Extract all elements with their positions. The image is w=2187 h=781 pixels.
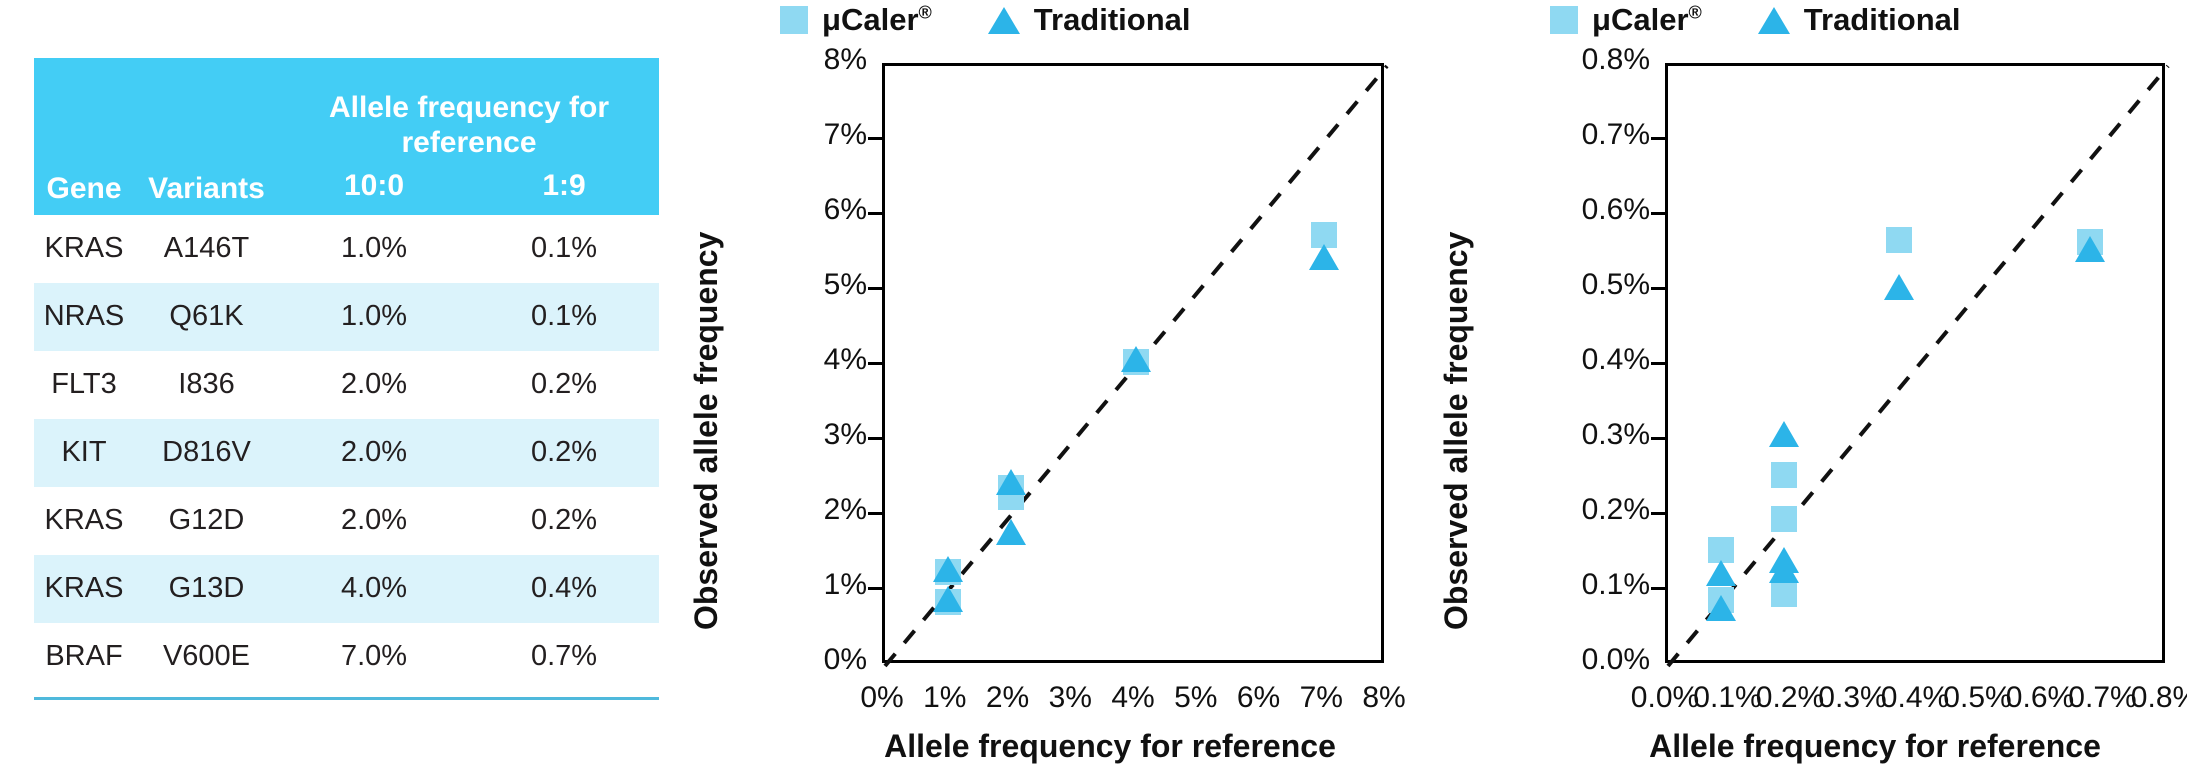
y-axis-tick-mark — [1651, 362, 1665, 365]
square-marker-icon — [1550, 6, 1578, 34]
data-point-triangle — [1769, 421, 1799, 447]
y-axis-tick-label: 0.7% — [1525, 118, 1650, 152]
cell-gene: KRAS — [34, 555, 134, 623]
cell-variant: A146T — [134, 215, 279, 283]
y-axis-tick-mark — [868, 362, 882, 365]
chart-1-plot-area — [882, 63, 1384, 663]
y-axis-tick-label: 1% — [742, 568, 867, 602]
y-axis-tick-label: 0.5% — [1525, 268, 1650, 302]
table-row: KRASG12D2.0%0.2% — [34, 487, 659, 555]
table-row: KRASG13D4.0%0.4% — [34, 555, 659, 623]
cell-variant: G13D — [134, 555, 279, 623]
chart-2-y-axis-label: Observed allele frequency — [1438, 232, 1475, 630]
legend-item-traditional: Traditional — [1758, 2, 1961, 38]
data-point-triangle — [1884, 274, 1914, 300]
chart-2-plot-area — [1665, 63, 2165, 663]
data-point-triangle — [996, 519, 1026, 545]
y-axis-tick-label: 0.8% — [1525, 43, 1650, 77]
data-point-square — [1708, 537, 1734, 563]
table-header-variants: Variants — [134, 163, 279, 215]
cell-gene: NRAS — [34, 283, 134, 351]
legend-item-ucaler: μCaler® — [780, 2, 932, 38]
y-axis-tick-label: 5% — [742, 268, 867, 302]
y-axis-tick-label: 0.6% — [1525, 193, 1650, 227]
table-header-ratio-1-9: 1:9 — [469, 163, 659, 215]
identity-line — [1668, 66, 2162, 660]
table-header-ratio-10-0: 10:0 — [279, 163, 469, 215]
data-point-triangle — [1309, 244, 1339, 270]
chart-1-legend: μCaler® Traditional — [780, 2, 1191, 38]
cell-gene: KRAS — [34, 487, 134, 555]
cell-variant: I836 — [134, 351, 279, 419]
y-axis-tick-mark — [1651, 587, 1665, 590]
cell-af-10-0: 1.0% — [279, 215, 469, 283]
cell-af-10-0: 4.0% — [279, 555, 469, 623]
cell-af-10-0: 7.0% — [279, 623, 469, 691]
data-point-triangle — [1121, 346, 1151, 372]
data-point-triangle — [996, 469, 1026, 495]
y-axis-tick-label: 3% — [742, 418, 867, 452]
data-point-triangle — [1706, 595, 1736, 621]
cell-af-1-9: 0.2% — [469, 351, 659, 419]
y-axis-tick-label: 8% — [742, 43, 867, 77]
cell-variant: V600E — [134, 623, 279, 691]
table-row: NRASQ61K1.0%0.1% — [34, 283, 659, 351]
legend-label-traditional: Traditional — [1034, 2, 1191, 38]
cell-af-1-9: 0.7% — [469, 623, 659, 691]
chart-2-x-axis-label: Allele frequency for reference — [1570, 728, 2180, 765]
y-axis-tick-label: 2% — [742, 493, 867, 527]
cell-variant: D816V — [134, 419, 279, 487]
y-axis-tick-label: 0.1% — [1525, 568, 1650, 602]
cell-af-10-0: 2.0% — [279, 419, 469, 487]
y-axis-tick-mark — [868, 587, 882, 590]
y-axis-tick-mark — [1651, 512, 1665, 515]
cell-gene: KRAS — [34, 215, 134, 283]
data-point-triangle — [1706, 560, 1736, 586]
data-point-square — [1886, 227, 1912, 253]
cell-af-1-9: 0.1% — [469, 215, 659, 283]
data-point-square — [1771, 462, 1797, 488]
legend-item-ucaler: μCaler® — [1550, 2, 1702, 38]
table-head: Allele frequency for reference Gene Vari… — [34, 58, 659, 215]
y-axis-tick-label: 4% — [742, 343, 867, 377]
data-point-triangle — [2075, 236, 2105, 262]
chart-2-legend: μCaler® Traditional — [1550, 2, 1961, 38]
y-axis-tick-label: 0.0% — [1525, 643, 1650, 677]
table-header-group-allele-frequency: Allele frequency for reference — [279, 78, 659, 163]
y-axis-tick-mark — [1651, 212, 1665, 215]
data-point-triangle — [933, 556, 963, 582]
x-axis-tick-label: 0.8% — [2105, 681, 2187, 715]
square-marker-icon — [780, 6, 808, 34]
cell-af-10-0: 2.0% — [279, 487, 469, 555]
scatter-chart-1: μCaler® Traditional Observed allele freq… — [660, 0, 1420, 781]
legend-item-traditional: Traditional — [988, 2, 1191, 38]
table-row: KRASA146T1.0%0.1% — [34, 215, 659, 283]
y-axis-tick-mark — [1651, 437, 1665, 440]
cell-af-10-0: 2.0% — [279, 351, 469, 419]
chart-1-x-axis-label: Allele frequency for reference — [800, 728, 1420, 765]
y-axis-tick-mark — [868, 287, 882, 290]
y-axis-tick-mark — [868, 137, 882, 140]
y-axis-tick-label: 0% — [742, 643, 867, 677]
cell-af-1-9: 0.1% — [469, 283, 659, 351]
y-axis-tick-mark — [868, 512, 882, 515]
cell-af-1-9: 0.2% — [469, 419, 659, 487]
data-point-square — [1771, 581, 1797, 607]
cell-gene: FLT3 — [34, 351, 134, 419]
variant-table-panel: Allele frequency for reference Gene Vari… — [34, 58, 659, 700]
chart-1-y-axis-label: Observed allele frequency — [688, 232, 725, 630]
cell-gene: BRAF — [34, 623, 134, 691]
table-row: KITD816V2.0%0.2% — [34, 419, 659, 487]
cell-gene: KIT — [34, 419, 134, 487]
cell-af-1-9: 0.4% — [469, 555, 659, 623]
legend-label-ucaler: μCaler® — [1592, 2, 1702, 38]
table-header-gene: Gene — [34, 163, 134, 215]
y-axis-tick-mark — [1651, 137, 1665, 140]
scatter-chart-2: μCaler® Traditional Observed allele freq… — [1420, 0, 2187, 781]
table-row: BRAFV600E7.0%0.7% — [34, 623, 659, 691]
cell-af-1-9: 0.2% — [469, 487, 659, 555]
cell-af-10-0: 1.0% — [279, 283, 469, 351]
y-axis-tick-mark — [1651, 287, 1665, 290]
y-axis-tick-label: 0.4% — [1525, 343, 1650, 377]
y-axis-tick-label: 7% — [742, 118, 867, 152]
y-axis-tick-label: 0.3% — [1525, 418, 1650, 452]
y-axis-tick-mark — [868, 437, 882, 440]
table-row: FLT3I8362.0%0.2% — [34, 351, 659, 419]
variant-table: Allele frequency for reference Gene Vari… — [34, 58, 659, 691]
data-point-square — [1771, 506, 1797, 532]
triangle-marker-icon — [1758, 7, 1790, 34]
y-axis-tick-label: 6% — [742, 193, 867, 227]
legend-label-traditional: Traditional — [1804, 2, 1961, 38]
table-bottom-rule — [34, 697, 659, 700]
legend-label-ucaler: μCaler® — [822, 2, 932, 38]
y-axis-tick-label: 0.2% — [1525, 493, 1650, 527]
cell-variant: G12D — [134, 487, 279, 555]
data-point-triangle — [1769, 557, 1799, 583]
triangle-marker-icon — [988, 7, 1020, 34]
data-point-triangle — [933, 586, 963, 612]
figure-root: Allele frequency for reference Gene Vari… — [0, 0, 2187, 781]
table-body: KRASA146T1.0%0.1%NRASQ61K1.0%0.1%FLT3I83… — [34, 215, 659, 691]
cell-variant: Q61K — [134, 283, 279, 351]
y-axis-tick-mark — [868, 212, 882, 215]
